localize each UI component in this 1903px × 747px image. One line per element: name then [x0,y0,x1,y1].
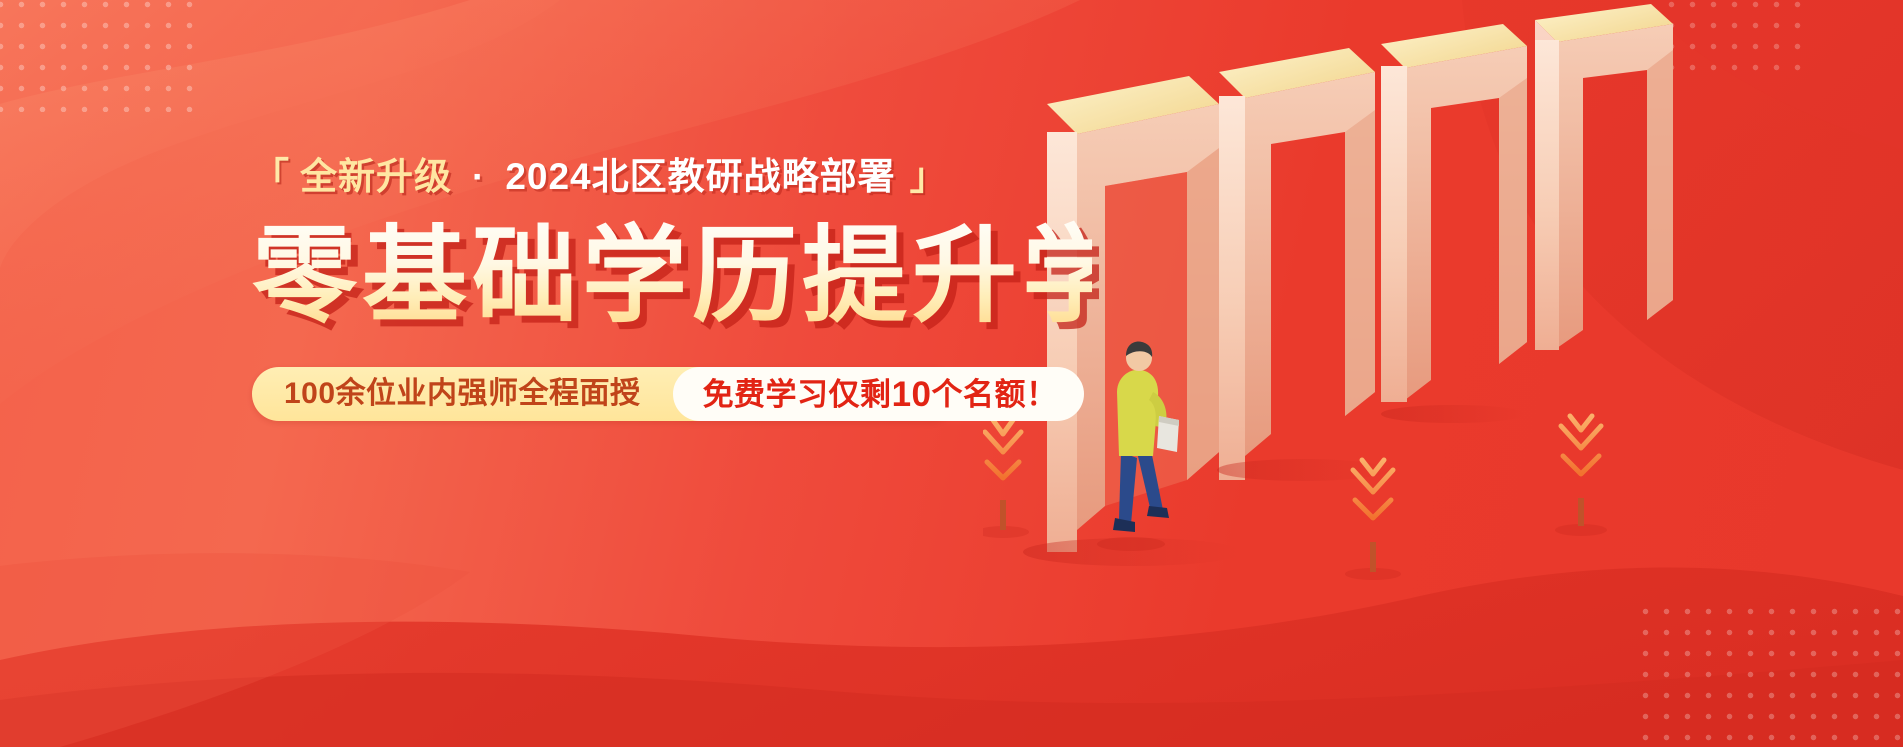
bracket-close-icon: 」 [910,158,948,195]
arch-4 [1535,4,1673,350]
tree-right [1555,416,1607,536]
arches-illustration [983,0,1903,747]
banner-content: 「 全新升级 · 2024北区教研战略部署 」 零基础学历提升学霸班 100余位… [252,150,1092,421]
banner-pill-group: 100余位业内强师全程面授 免费学习仅剩10个名额！ [252,367,958,421]
eyebrow-separator-icon: · [462,158,495,195]
bracket-open-icon: 「 [252,158,290,195]
pill-seats-suffix: 个名额！ [932,379,1058,410]
pill-seats-remaining[interactable]: 免费学习仅剩10个名额！ [673,367,1084,421]
banner-headline: 零基础学历提升学霸班 [252,220,1092,333]
pill-instructors-label: 100余位业内强师全程面授 [252,379,667,409]
promo-banner: 「 全新升级 · 2024北区教研战略部署 」 零基础学历提升学霸班 100余位… [0,0,1903,747]
dot-grid-top-left [0,0,205,112]
illustration-arches-scene [983,0,1903,747]
pill-seats-count: 10 [892,377,932,412]
banner-eyebrow: 「 全新升级 · 2024北区教研战略部署 」 [252,150,1092,202]
eyebrow-plain: 2024北区教研战略部署 [505,158,895,195]
eyebrow-highlight: 全新升级 [300,158,452,195]
pill-seats-prefix: 免费学习仅剩 [703,379,892,410]
arch-3 [1381,24,1527,402]
tree-left [983,420,1029,538]
